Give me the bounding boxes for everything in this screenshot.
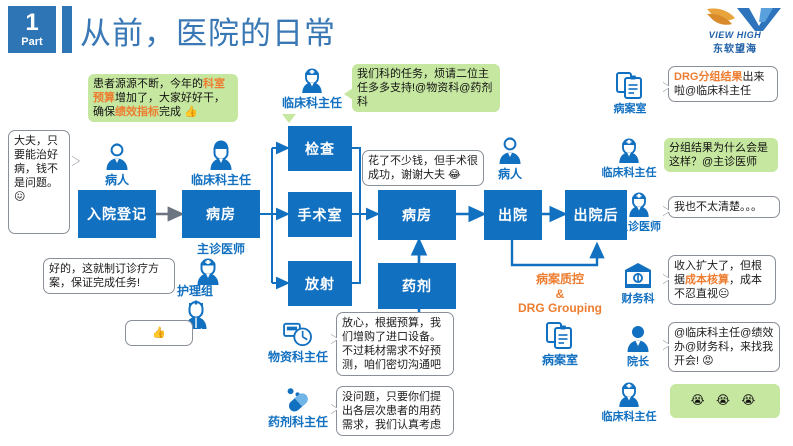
bubble-tail <box>71 156 79 166</box>
slide-canvas: 1 Part 从前，医院的日常 VIEW HIGH 东软望海 <box>0 0 793 446</box>
role-clinical-director-ward: 临床科主任 <box>181 143 261 188</box>
flow-box-ward-2[interactable]: 病房 <box>378 190 456 240</box>
bubble-tail <box>662 274 670 284</box>
bubble-tail <box>282 114 296 123</box>
doctor-icon <box>208 143 234 171</box>
medical-records-office-group-center: 病案室 <box>525 320 595 368</box>
role-label-clinical-director: 临床科主任 <box>588 408 670 424</box>
bubble-tail <box>485 163 493 173</box>
bubble-tail <box>662 82 670 92</box>
page-title: 从前，医院的日常 <box>80 8 336 53</box>
flow-box-label: 放射 <box>305 274 335 294</box>
bubble-patient-money[interactable]: 大夫，只要能治好病，钱不是问题。😖 <box>8 130 70 234</box>
bubble-finance-cost[interactable]: 收入扩大了，但根据成本核算，成本不忍直视😐 <box>668 255 776 305</box>
bank-icon <box>624 262 652 290</box>
bubble-patient-thanks[interactable]: 花了不少钱，但手术很成功，谢谢大夫 😂 <box>362 150 484 186</box>
bubble-attending-unclear[interactable]: 我也不太清楚。。。 <box>668 196 780 218</box>
bubble-seg-highlight: 绩效指标 <box>115 106 159 118</box>
flow-box-label: 病房 <box>206 204 236 224</box>
role-patient-admission: 病人 <box>92 143 142 188</box>
flow-box-pharmacy[interactable]: 药剂 <box>378 263 456 309</box>
bubble-tail <box>662 340 670 350</box>
role-label-materials-director: 物资科主任 <box>258 348 338 365</box>
bubble-seg: 患者源源不断，今年的 <box>93 78 203 90</box>
drg-caption-line3: DRG Grouping <box>500 301 620 316</box>
bubble-nursing-ok[interactable]: 👍 <box>125 320 193 346</box>
role-clinical-director-cry: 临床科主任 <box>588 382 670 424</box>
clipboard-icon <box>616 70 644 100</box>
role-pharmacy-director: 药剂科主任 <box>258 387 338 430</box>
role-clinical-director-question: 临床科主任 <box>588 138 670 180</box>
bubble-director-question[interactable]: 分组结果为什么会是这样？@主诊医师 <box>664 138 778 172</box>
role-label-finance-department: 财务科 <box>605 290 671 306</box>
part-number: 1 <box>25 11 38 35</box>
bubble-clinical-director-budget[interactable]: 患者源源不断，今年的科室预算增加了，大家好好干，确保绩效指标完成 👍 <box>88 74 238 122</box>
viewhigh-logo: VIEW HIGH 东软望海 <box>685 6 785 50</box>
flow-box-radiology[interactable]: 放射 <box>288 261 352 306</box>
flow-box-discharge[interactable]: 出院 <box>484 190 542 240</box>
flow-box-label: 出院 <box>498 205 528 225</box>
bubble-tail <box>176 271 184 281</box>
role-label-pharmacy-director: 药剂科主任 <box>258 413 338 430</box>
bubble-seg-highlight: DRG分组结果 <box>674 71 742 83</box>
flow-box-label: 药剂 <box>402 276 432 296</box>
capsule-icon <box>284 387 312 413</box>
bubble-president-meeting[interactable]: @临床科主任@绩效办@财务科，来找我开会! 😡 <box>668 322 780 372</box>
role-hospital-president: 院长 <box>610 325 666 369</box>
bubble-records-drg[interactable]: DRG分组结果出来啦@临床科主任 <box>668 66 778 102</box>
flow-box-admission[interactable]: 入院登记 <box>78 190 156 238</box>
role-label-clinical-director: 临床科主任 <box>588 164 670 180</box>
role-materials-director: 物资科主任 <box>258 322 338 365</box>
attending-physician-icon <box>627 192 651 218</box>
logo-swoosh-icon <box>685 6 785 32</box>
role-label-patient: 病人 <box>92 171 142 188</box>
patient-icon <box>104 143 130 171</box>
flow-box-label: 检查 <box>305 139 335 159</box>
role-label-clinical-director: 临床科主任 <box>181 171 261 188</box>
flow-box-label: 入院登记 <box>87 204 147 224</box>
bubble-seg: 完成 👍 <box>159 106 198 118</box>
bubble-tail <box>344 88 353 100</box>
bubble-tail <box>330 334 338 344</box>
title-accent-bar <box>62 6 72 53</box>
doctor-icon <box>617 382 641 408</box>
equipment-icon <box>283 322 313 348</box>
bubble-tail <box>194 328 202 338</box>
bubble-attending-plan[interactable]: 好的，这就制订诊疗方案，保证完成任务! <box>43 258 175 294</box>
drg-caption-line2: & <box>500 287 620 302</box>
doctor-icon <box>617 138 641 164</box>
role-label-hospital-president: 院长 <box>610 353 666 369</box>
flow-box-label: 病房 <box>402 205 432 225</box>
president-icon <box>625 325 651 353</box>
role-patient-thanks: 病人 <box>488 137 532 182</box>
role-label-attending-under-ward: 主诊医师 <box>181 240 261 257</box>
bubble-clinical-director-task[interactable]: 我们科的任务，烦请二位主任多多支持!@物资科@药剂科 <box>352 64 500 112</box>
doctor-icon <box>300 68 324 94</box>
bubble-pharmacy-reply[interactable]: 没问题，只要你们提出各层次患者的用药需求，我们认真考虑 <box>336 386 454 436</box>
bubble-materials-reply[interactable]: 放心，根据预算，我们增购了进口设备。不过耗材需求不好预测，咱们密切沟通吧 <box>336 312 454 376</box>
role-label-attending-physician: 主诊医师 <box>602 218 676 234</box>
role-label-patient: 病人 <box>488 165 532 182</box>
bubble-seg-highlight: 成本核算 <box>685 274 729 286</box>
role-clinical-director-task: 临床科主任 <box>272 68 352 111</box>
role-medical-records-office: 病案室 <box>600 70 660 116</box>
role-label-clinical-director: 临床科主任 <box>272 94 352 111</box>
flow-box-exam[interactable]: 检查 <box>288 126 352 171</box>
drg-caption: 病案质控 & DRG Grouping <box>500 272 620 316</box>
logo-chinese-name: 东软望海 <box>685 40 785 55</box>
clipboard-icon <box>546 320 574 350</box>
bubble-director-cry[interactable]: 😭 😭 😭 <box>670 384 780 418</box>
medical-records-office-center-label: 病案室 <box>525 351 595 368</box>
role-finance-department: 财务科 <box>605 262 671 306</box>
drg-caption-line1: 病案质控 <box>500 272 620 287</box>
part-word: Part <box>21 37 42 48</box>
role-label-medical-records-office: 病案室 <box>600 100 660 116</box>
flow-box-ward-1[interactable]: 病房 <box>182 190 260 238</box>
flow-box-operating-room[interactable]: 手术室 <box>288 192 352 237</box>
flow-box-label: 手术室 <box>298 205 343 225</box>
bubble-tail <box>330 404 338 414</box>
patient-icon <box>497 137 523 165</box>
logo-latin-name: VIEW HIGH <box>685 30 785 40</box>
bubble-tail <box>662 206 670 216</box>
part-badge: 1 Part <box>8 6 56 53</box>
